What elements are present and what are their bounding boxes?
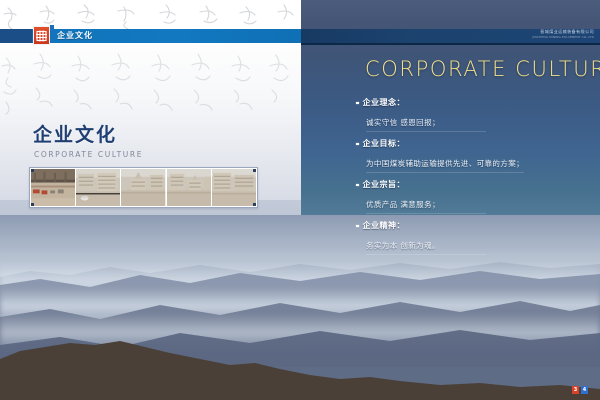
photo-segment-1[interactable] (31, 169, 75, 206)
list-item: 企业目标： 为中国煤炭辅助运输提供先进、可靠的方案； (356, 137, 586, 173)
top-bar-underline (301, 43, 600, 45)
photo-segment-2[interactable] (75, 169, 120, 206)
culture-item-heading: 企业精神： (363, 219, 406, 233)
bullet-square-icon (356, 102, 359, 105)
frame-corner-tl (31, 169, 34, 172)
photo-segment-3[interactable] (120, 169, 165, 206)
culture-list: 企业理念： 诚实守信 感恩回报； 企业目标： 为中国煤炭辅助运输提供先进、可靠的… (356, 96, 586, 260)
left-panel-title-en: CORPORATE CULTURE (34, 150, 143, 160)
logo-accent-square (50, 25, 54, 29)
ridge-foreground (0, 333, 600, 400)
culture-item-heading-row: 企业目标： (356, 137, 586, 151)
frame-corner-tr (253, 169, 256, 172)
list-item: 企业精神： 务实为本 创新为魂。 (356, 219, 586, 255)
culture-item-heading: 企业目标： (363, 137, 406, 151)
culture-item-heading-row: 企业精神： (356, 219, 586, 233)
culture-item-heading-row: 企业宗旨： (356, 178, 586, 192)
bullet-square-icon (356, 184, 359, 187)
left-panel-title-cn: 企业文化 (33, 124, 117, 146)
company-name-block: 晋城煤业运输装备有限公司 JINCHENG MINING EQUIPMENT C… (504, 29, 594, 39)
page-number-left[interactable]: 3 (572, 386, 579, 394)
nav-tab-corporate-culture[interactable]: 企业文化 (57, 30, 93, 42)
page-number-right[interactable]: 4 (581, 386, 588, 394)
bullet-square-icon (356, 143, 359, 146)
culture-item-heading: 企业理念： (363, 96, 406, 110)
panorama-photo-strip[interactable] (29, 167, 258, 208)
page-number-group: 3 4 (572, 386, 588, 394)
frame-corner-br (253, 203, 256, 206)
brochure-page: 企业文化 CORPORATE CULTURE (0, 0, 600, 400)
photo-segment-5[interactable] (211, 169, 256, 206)
page-title: CORPORATE CULTURE (365, 57, 600, 81)
list-item: 企业宗旨： 优质产品 满意服务； (356, 178, 586, 214)
culture-item-body: 为中国煤炭辅助运输提供先进、可靠的方案； (366, 157, 524, 173)
culture-item-body: 诚实守信 感恩回报； (366, 116, 486, 132)
list-item: 企业理念： 诚实守信 感恩回报； (356, 96, 586, 132)
culture-item-heading: 企业宗旨： (363, 178, 406, 192)
frame-corner-bl (31, 203, 34, 206)
top-navigation-bar-left-cap (0, 29, 32, 43)
culture-item-body: 优质产品 满意服务； (366, 198, 486, 214)
bullet-square-icon (356, 225, 359, 228)
culture-item-body: 务实为本 创新为魂。 (366, 239, 486, 255)
grid-logo-icon[interactable] (33, 26, 50, 45)
culture-item-heading-row: 企业理念： (356, 96, 586, 110)
company-name-en: JINCHENG MINING EQUIPMENT CO.,LTD (504, 35, 594, 39)
photo-segment-4[interactable] (166, 169, 211, 206)
